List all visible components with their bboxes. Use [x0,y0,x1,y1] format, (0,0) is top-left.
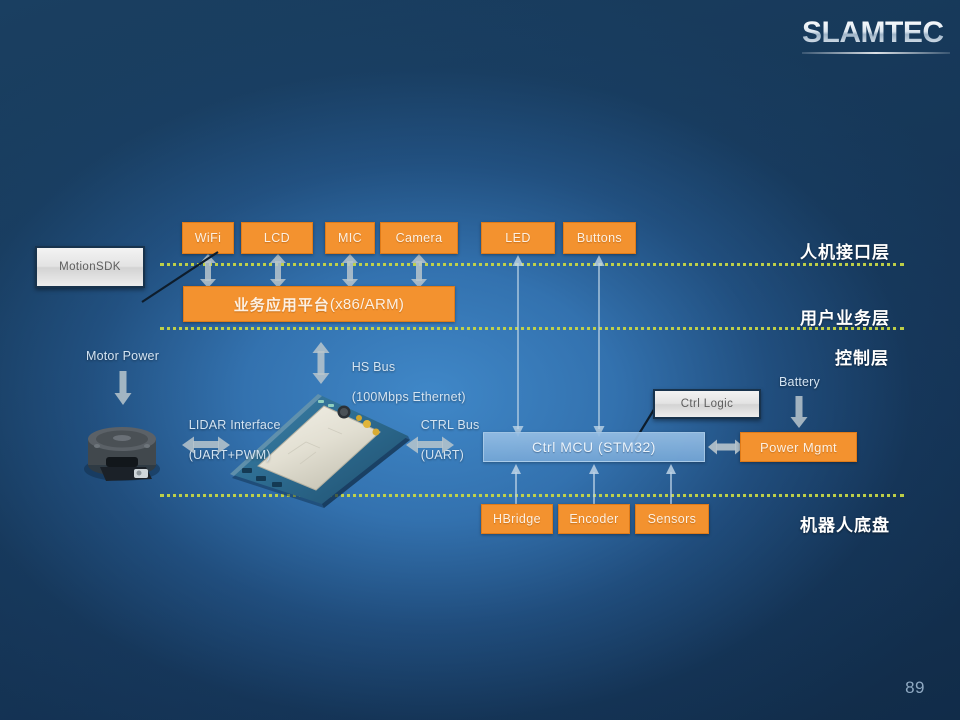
platform-label-cn: 业务应用平台 [234,294,330,315]
arrow-battery-down [789,396,809,428]
layer-label-chassis: 机器人底盘 [800,511,890,536]
hmi-box-camera[interactable]: Camera [380,222,458,254]
arrow-camera-updown [410,254,428,288]
layer-label-hmi: 人机接口层 [800,238,890,263]
layer-label-control: 控制层 [835,344,889,369]
arrow-buttons-to-mcu [591,255,607,437]
arrow-lidar-leftright [182,434,230,456]
slamtec-logo: SLAMTEC [802,18,950,58]
lidar-motor-icon [82,405,168,485]
platform-box[interactable]: 业务应用平台(x86/ARM) [183,286,455,322]
leader-line-motionsdk [140,250,220,304]
label-hs-bus-line1: HS Bus [352,360,396,374]
arrow-ctrl-bus-leftright [406,434,454,456]
ctrl-mcu-box[interactable]: Ctrl MCU (STM32) [483,432,705,462]
chassis-box-encoder[interactable]: Encoder [558,504,630,534]
callout-motionsdk[interactable]: MotionSDK [35,246,145,288]
label-battery: Battery [779,375,820,390]
arrow-encoder-to-mcu [587,464,601,504]
arrow-lcd-updown [269,254,287,288]
label-ctrl-bus-line1: CTRL Bus [421,418,480,432]
page-number: 89 [905,678,925,698]
platform-label-en: (x86/ARM) [330,296,404,313]
arrow-mcu-power-leftright [708,437,744,457]
arrow-hs-bus-updown [311,342,331,384]
hmi-box-led[interactable]: LED [481,222,555,254]
logo-underline [802,52,950,54]
arrow-led-to-mcu [510,255,526,437]
arrow-sensors-to-mcu [664,464,678,504]
arrow-motor-power-down [113,371,133,405]
power-mgmt-box[interactable]: Power Mgmt [740,432,857,462]
logo-text: SLAMTEC [802,18,950,48]
chassis-box-hbridge[interactable]: HBridge [481,504,553,534]
layer-label-user-business: 用户业务层 [800,304,890,329]
callout-ctrl-logic[interactable]: Ctrl Logic [653,389,761,419]
label-motor-power: Motor Power [86,349,159,364]
hmi-box-lcd[interactable]: LCD [241,222,313,254]
slide-canvas: SLAMTEC 人机接口层 用户业务层 控制层 机器人底盘 [0,0,960,720]
arrow-mic-updown [341,254,359,288]
label-lidar-line1: LIDAR Interface [189,418,281,432]
hmi-box-mic[interactable]: MIC [325,222,375,254]
chassis-box-sensors[interactable]: Sensors [635,504,709,534]
divider-user-business [160,327,904,330]
label-hs-bus-line2: (100Mbps Ethernet) [352,390,466,404]
arrow-hbridge-to-mcu [509,464,523,504]
hmi-box-buttons[interactable]: Buttons [563,222,636,254]
